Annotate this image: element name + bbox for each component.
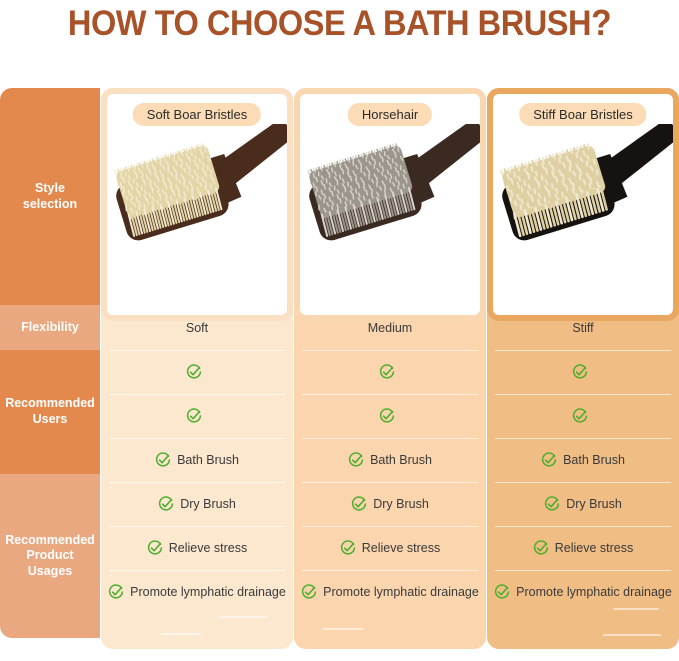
- usage-item: [572, 408, 594, 424]
- usage-label: Promote lymphatic drainage: [130, 585, 286, 599]
- product-photo-card: Stiff Boar Bristles: [487, 88, 679, 321]
- attribute-row-flexibility: Soft: [101, 305, 293, 350]
- usage-row-0: Bath Brush: [101, 438, 293, 482]
- usage-row-1: Dry Brush: [294, 482, 486, 526]
- question-mark: ?: [591, 2, 611, 43]
- usage-row-2: Relieve stress: [294, 526, 486, 570]
- usage-item: [379, 408, 401, 424]
- usage-item: Bath Brush: [541, 452, 625, 468]
- page-title-text: HOW TO CHOOSE A BATH BRUSH: [68, 4, 591, 43]
- usage-label: Dry Brush: [180, 497, 236, 511]
- check-circle-icon: [494, 584, 510, 600]
- usage-label: Bath Brush: [563, 453, 625, 467]
- row-divider: [495, 350, 671, 351]
- check-circle-icon: [541, 452, 557, 468]
- usage-item: Promote lymphatic drainage: [301, 584, 479, 600]
- row-divider: [109, 526, 285, 527]
- usage-item: Relieve stress: [533, 540, 634, 556]
- column-soft-boar-bristles[interactable]: Soft Boar BristlesSoftBath BrushDry Brus…: [101, 88, 293, 649]
- check-circle-icon: [340, 540, 356, 556]
- usage-item: Bath Brush: [348, 452, 432, 468]
- comparison-chart: Style selectionFlexibilityRecommended Us…: [0, 88, 679, 649]
- check-circle-icon: [379, 408, 395, 424]
- usage-item: [379, 364, 401, 380]
- stiff-boar-brush-illustration: [493, 124, 673, 274]
- usage-item: Promote lymphatic drainage: [108, 584, 286, 600]
- usage-item: Dry Brush: [158, 496, 236, 512]
- sidebar-row-label-3: Recommended Product Usages: [0, 474, 100, 638]
- stiff-boar-brush-image: [493, 124, 673, 274]
- usage-label: Dry Brush: [373, 497, 429, 511]
- horsehair-brush-illustration: [300, 124, 480, 274]
- check-circle-icon: [186, 364, 202, 380]
- usage-label: Relieve stress: [169, 541, 248, 555]
- row-divider: [109, 570, 285, 571]
- decorative-line-1: [603, 634, 661, 636]
- usage-label: Promote lymphatic drainage: [516, 585, 672, 599]
- row-label-sidebar: Style selectionFlexibilityRecommended Us…: [0, 88, 100, 638]
- check-circle-icon: [158, 496, 174, 512]
- sidebar-row-label-0: Style selection: [0, 88, 100, 305]
- usage-item: Promote lymphatic drainage: [494, 584, 672, 600]
- check-circle-icon: [544, 496, 560, 512]
- row-divider: [302, 350, 478, 351]
- row-divider: [302, 526, 478, 527]
- row-divider: [302, 482, 478, 483]
- check-circle-icon: [348, 452, 364, 468]
- decorative-line-0: [322, 628, 364, 630]
- row-divider: [109, 394, 285, 395]
- usage-label: Bath Brush: [177, 453, 239, 467]
- usage-row-2: Relieve stress: [101, 526, 293, 570]
- check-circle-icon: [379, 364, 395, 380]
- check-circle-icon: [533, 540, 549, 556]
- sidebar-label-text: Recommended Product Usages: [5, 533, 95, 580]
- row-divider: [302, 570, 478, 571]
- sidebar-label-text: Style selection: [23, 181, 77, 212]
- column-header-badge: Horsehair: [348, 103, 432, 126]
- row-divider: [495, 482, 671, 483]
- usage-row-1: Dry Brush: [487, 482, 679, 526]
- column-header-badge: Soft Boar Bristles: [133, 103, 261, 126]
- row-divider: [495, 570, 671, 571]
- decorative-line-0: [161, 633, 201, 635]
- usage-row-3: Promote lymphatic drainage: [294, 570, 486, 614]
- usage-item: Relieve stress: [147, 540, 248, 556]
- usage-row-NaN: [294, 394, 486, 438]
- check-circle-icon: [351, 496, 367, 512]
- usage-label: Relieve stress: [555, 541, 634, 555]
- row-divider: [109, 350, 285, 351]
- usage-row-NaN: [294, 350, 486, 394]
- attribute-row-flexibility: Stiff: [487, 305, 679, 350]
- check-circle-icon: [572, 408, 588, 424]
- usage-label: Dry Brush: [566, 497, 622, 511]
- usage-item: Relieve stress: [340, 540, 441, 556]
- check-circle-icon: [108, 584, 124, 600]
- soft-boar-brush-illustration: [107, 124, 287, 274]
- sidebar-row-label-1: Flexibility: [0, 305, 100, 350]
- row-divider: [495, 526, 671, 527]
- usage-item: [186, 364, 208, 380]
- sidebar-label-text: Recommended Users: [5, 396, 95, 427]
- attribute-value: Soft: [186, 321, 208, 335]
- usage-row-NaN: [487, 394, 679, 438]
- usage-row-NaN: [101, 394, 293, 438]
- row-divider: [495, 394, 671, 395]
- check-circle-icon: [301, 584, 317, 600]
- product-photo-card: Soft Boar Bristles: [101, 88, 293, 321]
- usage-row-NaN: [101, 350, 293, 394]
- check-circle-icon: [572, 364, 588, 380]
- check-circle-icon: [155, 452, 171, 468]
- row-divider: [495, 438, 671, 439]
- check-circle-icon: [186, 408, 202, 424]
- usage-label: Bath Brush: [370, 453, 432, 467]
- sidebar-label-text: Flexibility: [21, 320, 79, 336]
- usage-item: [186, 408, 208, 424]
- page-title: HOW TO CHOOSE A BATH BRUSH?: [24, 2, 655, 44]
- usage-item: Dry Brush: [351, 496, 429, 512]
- attribute-value: Stiff: [572, 321, 593, 335]
- usage-label: Promote lymphatic drainage: [323, 585, 479, 599]
- row-divider: [302, 438, 478, 439]
- usage-row-0: Bath Brush: [487, 438, 679, 482]
- usage-row-NaN: [487, 350, 679, 394]
- column-horsehair[interactable]: HorsehairMediumBath BrushDry BrushReliev…: [294, 88, 486, 649]
- row-divider: [302, 394, 478, 395]
- usage-row-2: Relieve stress: [487, 526, 679, 570]
- soft-boar-brush-image: [107, 124, 287, 274]
- column-header-badge: Stiff Boar Bristles: [519, 103, 646, 126]
- horsehair-brush-image: [300, 124, 480, 274]
- usage-item: Dry Brush: [544, 496, 622, 512]
- usage-item: [572, 364, 594, 380]
- column-stiff-boar-bristles[interactable]: Stiff Boar BristlesStiffBath BrushDry Br…: [487, 88, 679, 649]
- attribute-value: Medium: [368, 321, 412, 335]
- usage-row-3: Promote lymphatic drainage: [101, 570, 293, 614]
- usage-item: Bath Brush: [155, 452, 239, 468]
- row-divider: [109, 482, 285, 483]
- decorative-line-0: [613, 608, 659, 610]
- sidebar-row-label-2: Recommended Users: [0, 350, 100, 474]
- check-circle-icon: [147, 540, 163, 556]
- product-photo-card: Horsehair: [294, 88, 486, 321]
- row-divider: [109, 438, 285, 439]
- usage-row-1: Dry Brush: [101, 482, 293, 526]
- attribute-row-flexibility: Medium: [294, 305, 486, 350]
- decorative-line-1: [219, 616, 267, 618]
- usage-row-0: Bath Brush: [294, 438, 486, 482]
- usage-label: Relieve stress: [362, 541, 441, 555]
